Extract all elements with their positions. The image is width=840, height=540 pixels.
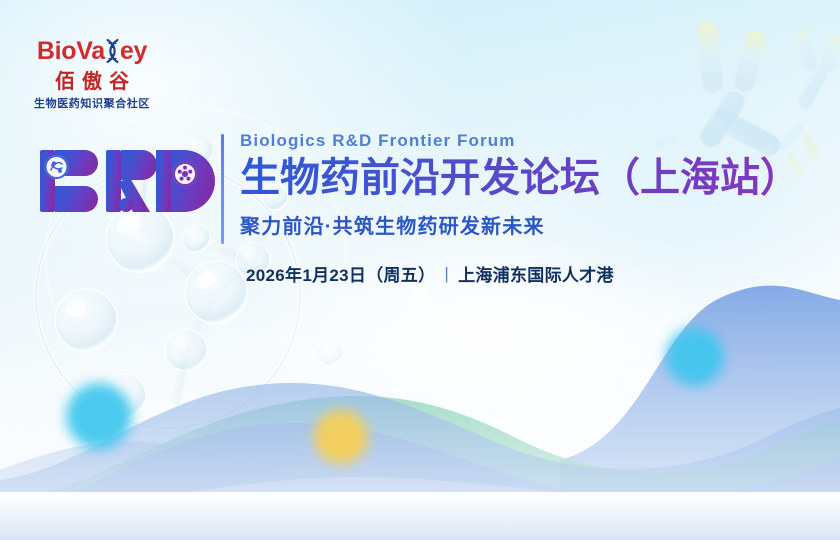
brand-logo-wordmark: BioVa ey <box>26 38 158 64</box>
brd-logo-mark <box>38 148 224 214</box>
title-group: Biologics R&D Frontier Forum 生物药前沿开发论坛（上… <box>240 131 820 239</box>
brand-logo-chinese: 佰傲谷 <box>26 72 158 92</box>
event-date: 2026年1月23日（周五） <box>246 261 435 286</box>
english-subtitle: Biologics R&D Frontier Forum <box>240 131 820 151</box>
event-venue: 上海浦东国际人才港 <box>458 261 614 286</box>
dna-helix-icon <box>104 38 121 64</box>
brd-letter-r <box>106 150 157 212</box>
event-banner: BioVa ey <box>0 0 840 540</box>
brand-logo-tagline: 生物医药知识聚合社区 <box>26 99 158 110</box>
event-meta: 2026年1月23日（周五） | 上海浦东国际人才港 <box>246 261 614 286</box>
cell-circle-icon <box>173 162 197 186</box>
banner-content: BioVa ey <box>0 0 840 540</box>
brand-logo-word-part2: ey <box>120 39 147 64</box>
brand-logo[interactable]: BioVa ey <box>26 38 158 110</box>
slogan: 聚力前沿·共筑生物药研发新未来 <box>240 210 820 239</box>
page-title: 生物药前沿开发论坛（上海站） <box>240 156 820 201</box>
brd-letters <box>38 148 224 214</box>
molecule-circle-icon <box>45 155 69 179</box>
meta-separator: | <box>444 264 449 284</box>
title-divider <box>221 134 224 244</box>
brand-logo-word-part1: BioVa <box>37 39 105 64</box>
